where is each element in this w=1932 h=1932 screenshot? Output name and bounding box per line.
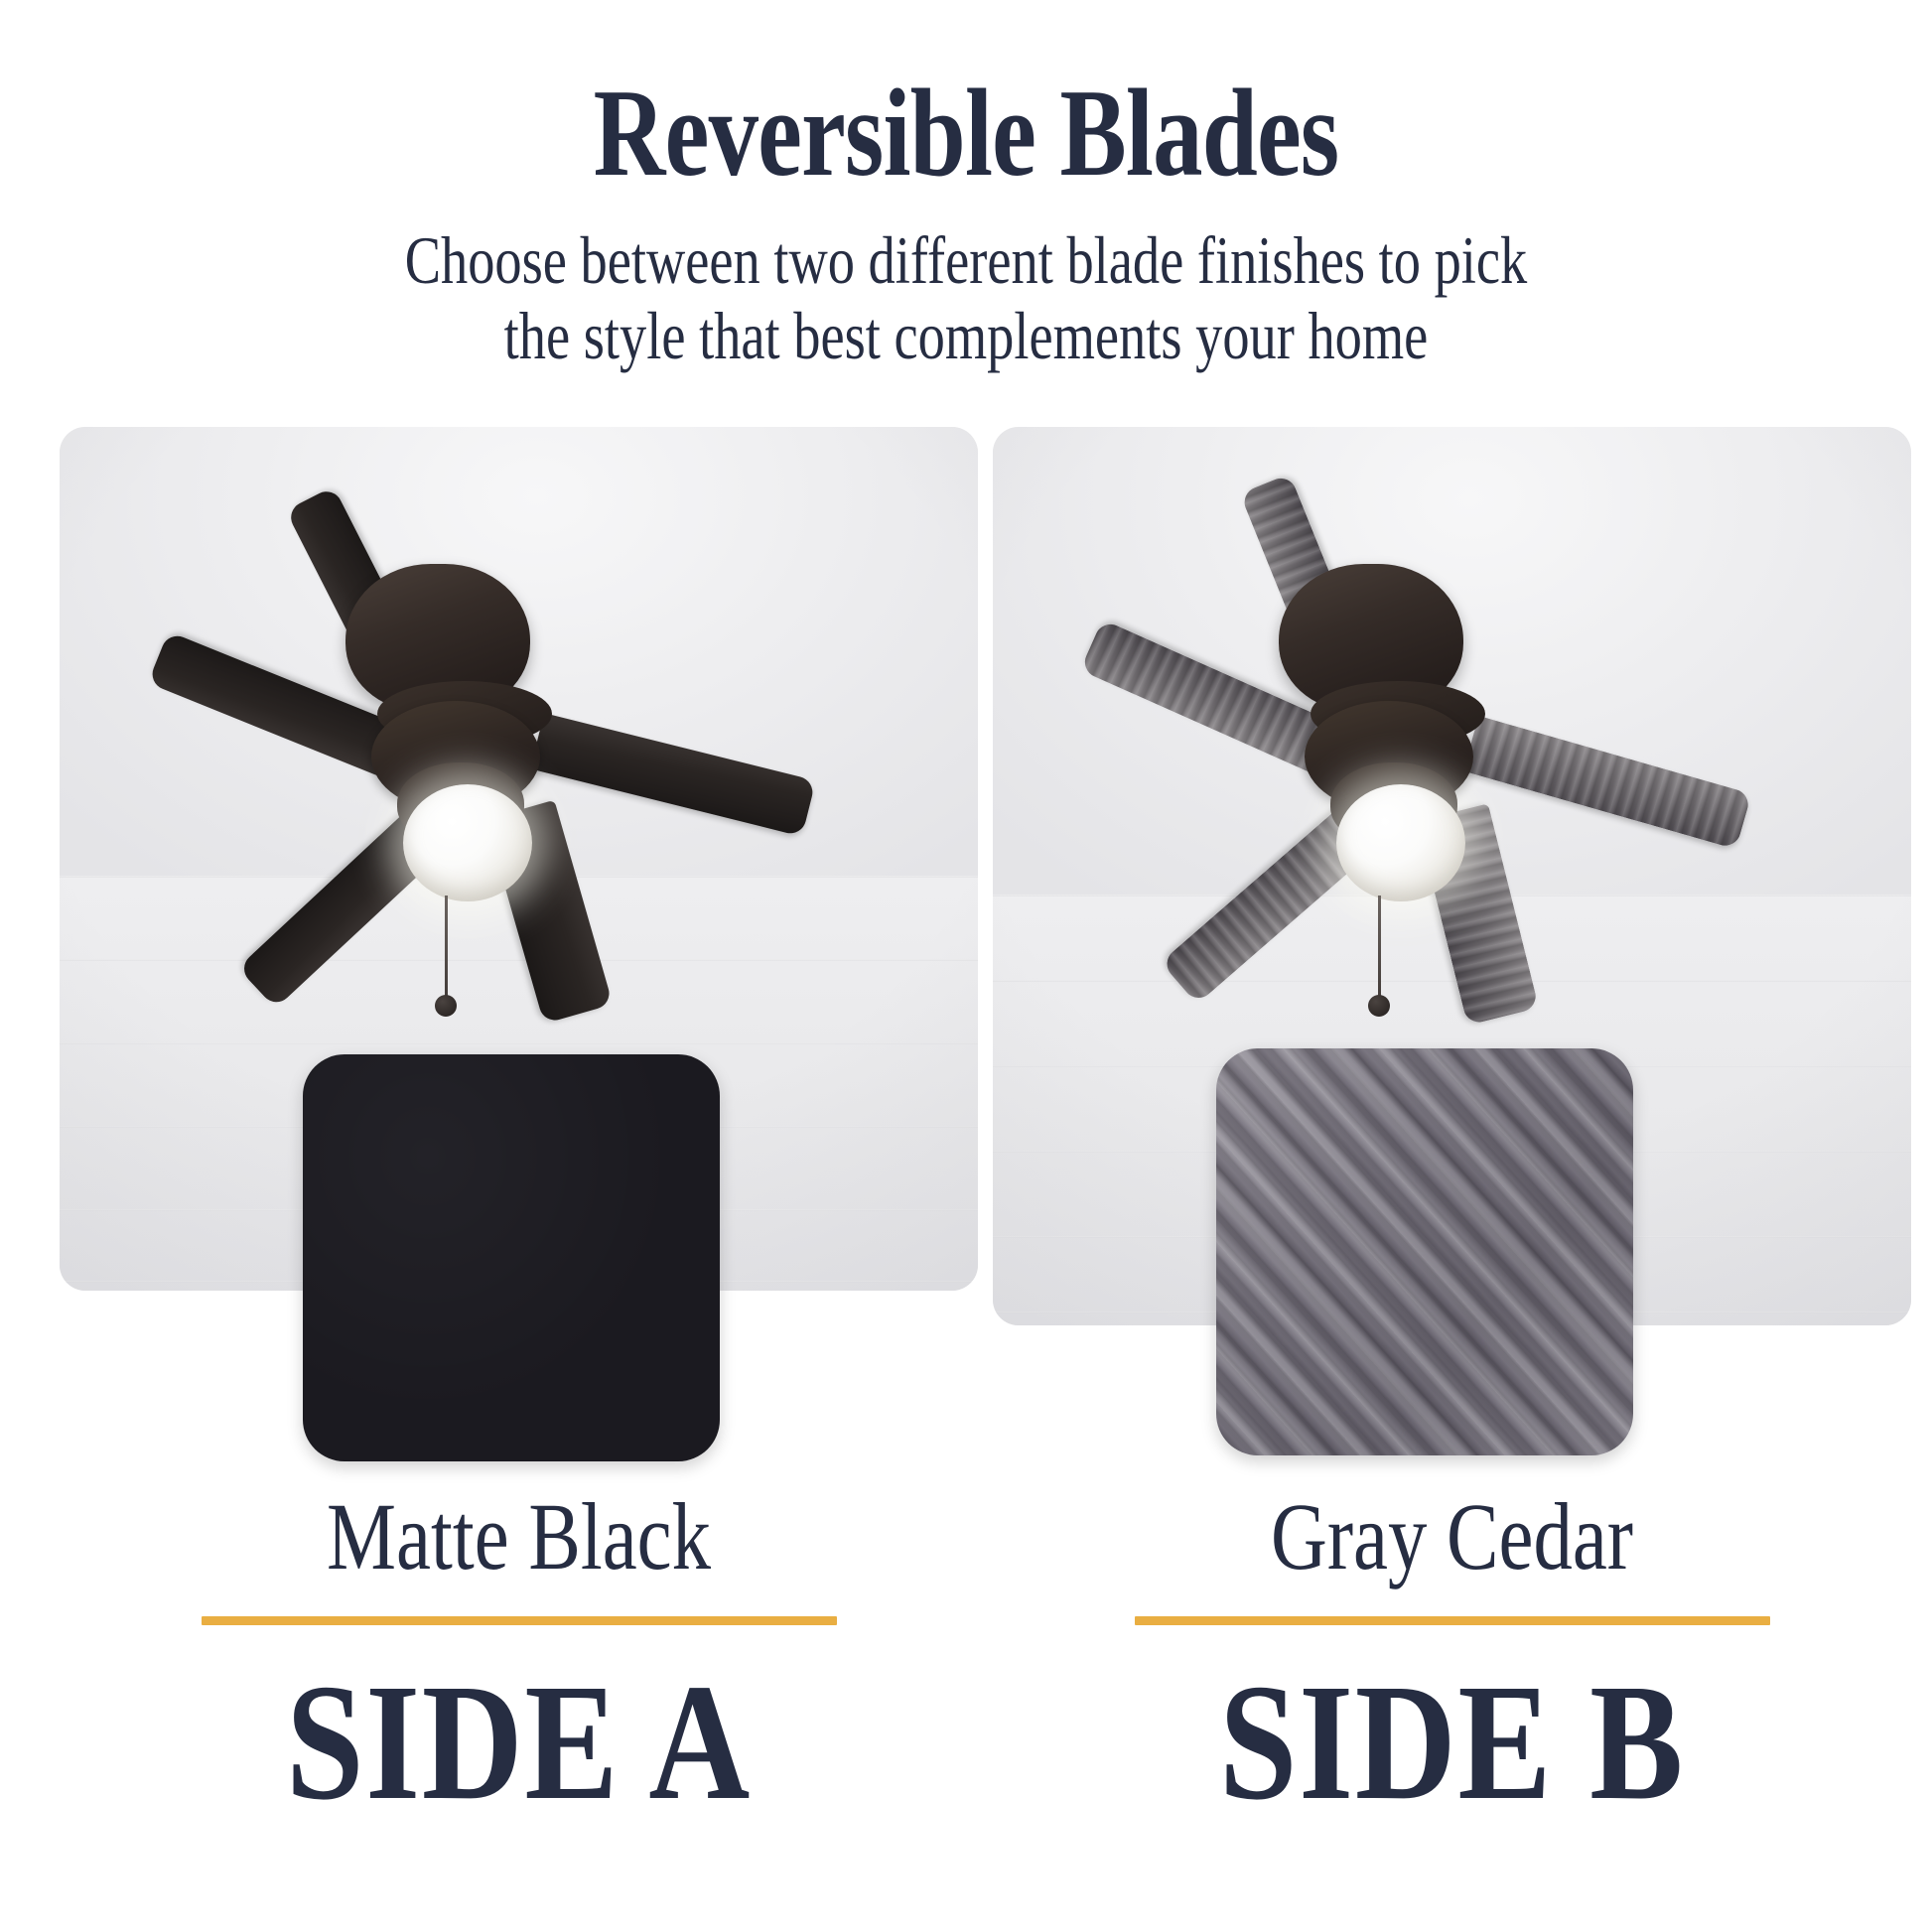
finish-name-side-a: Matte Black xyxy=(142,1489,896,1585)
page-subtitle: Choose between two different blade finis… xyxy=(194,222,1739,373)
finish-name-side-b: Gray Cedar xyxy=(1075,1489,1829,1585)
caption-side-b: Gray Cedar SIDE B xyxy=(993,1489,1911,1826)
side-label-b: SIDE B xyxy=(1066,1659,1838,1826)
side-label-a: SIDE A xyxy=(133,1659,904,1826)
gray-cedar-swatch[interactable] xyxy=(1216,1048,1633,1455)
gold-divider-side-a xyxy=(202,1616,837,1625)
caption-side-a: Matte Black SIDE A xyxy=(60,1489,978,1826)
header: Reversible Blades Choose between two dif… xyxy=(0,0,1932,373)
gold-divider-side-b xyxy=(1135,1616,1770,1625)
page-title: Reversible Blades xyxy=(194,71,1739,197)
matte-black-swatch[interactable] xyxy=(303,1054,720,1461)
